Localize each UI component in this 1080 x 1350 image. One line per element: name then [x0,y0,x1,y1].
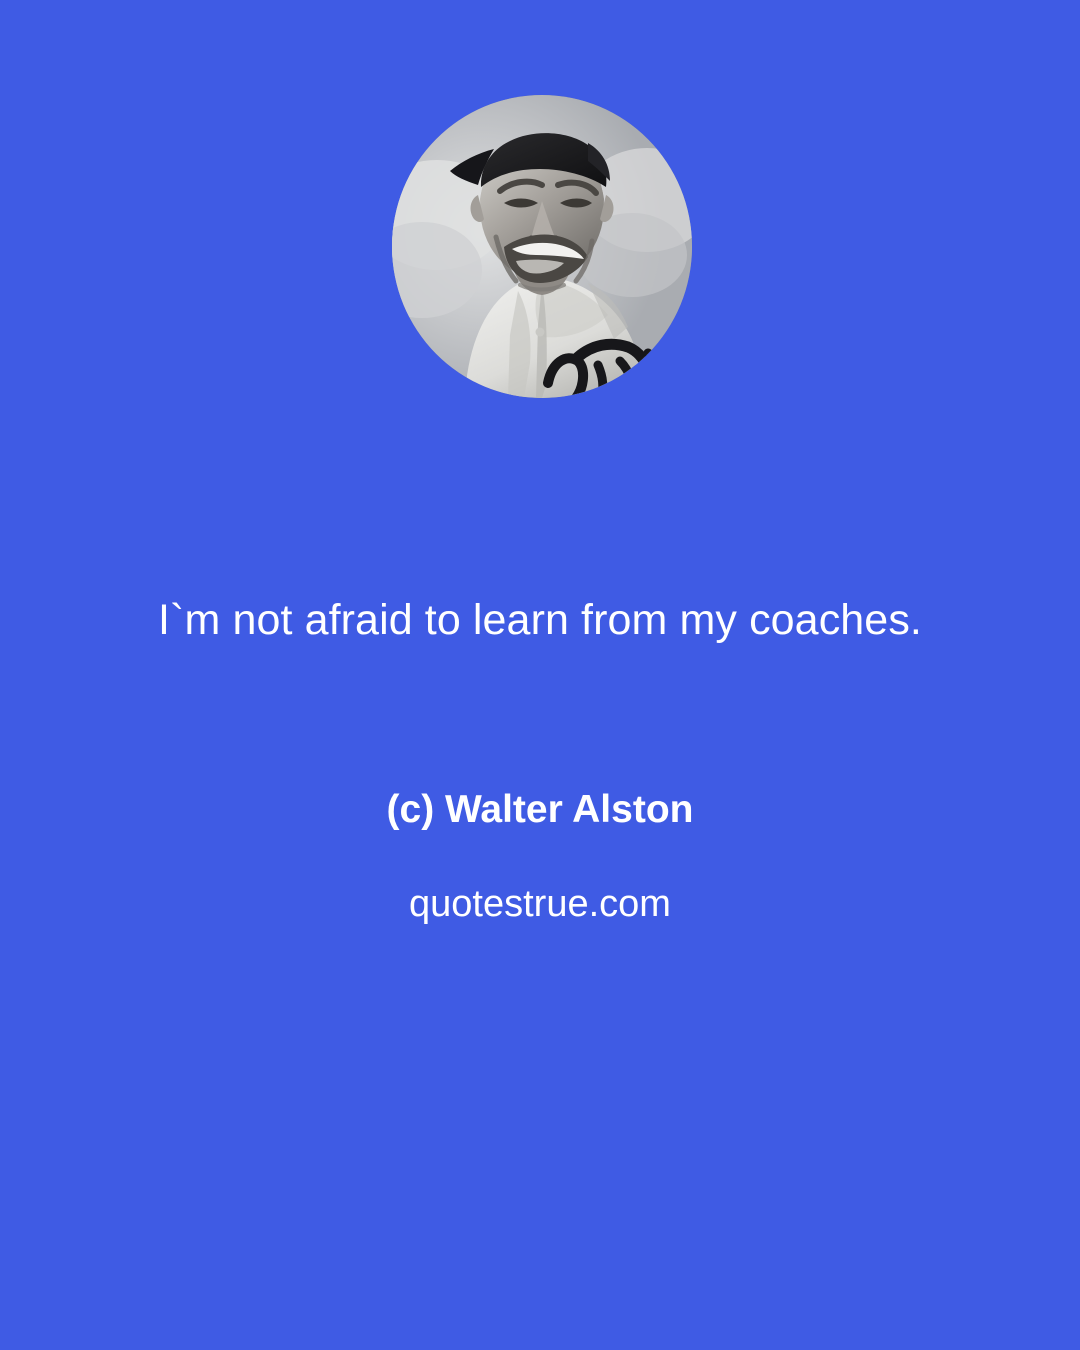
quote-card: I`m not afraid to learn from my coaches.… [0,0,1080,1350]
quote-text: I`m not afraid to learn from my coaches. [0,592,1080,648]
author-portrait [392,95,692,398]
quote-attribution: (c) Walter Alston [0,786,1080,834]
portrait-illustration [392,95,692,398]
source-website: quotestrue.com [0,880,1080,928]
